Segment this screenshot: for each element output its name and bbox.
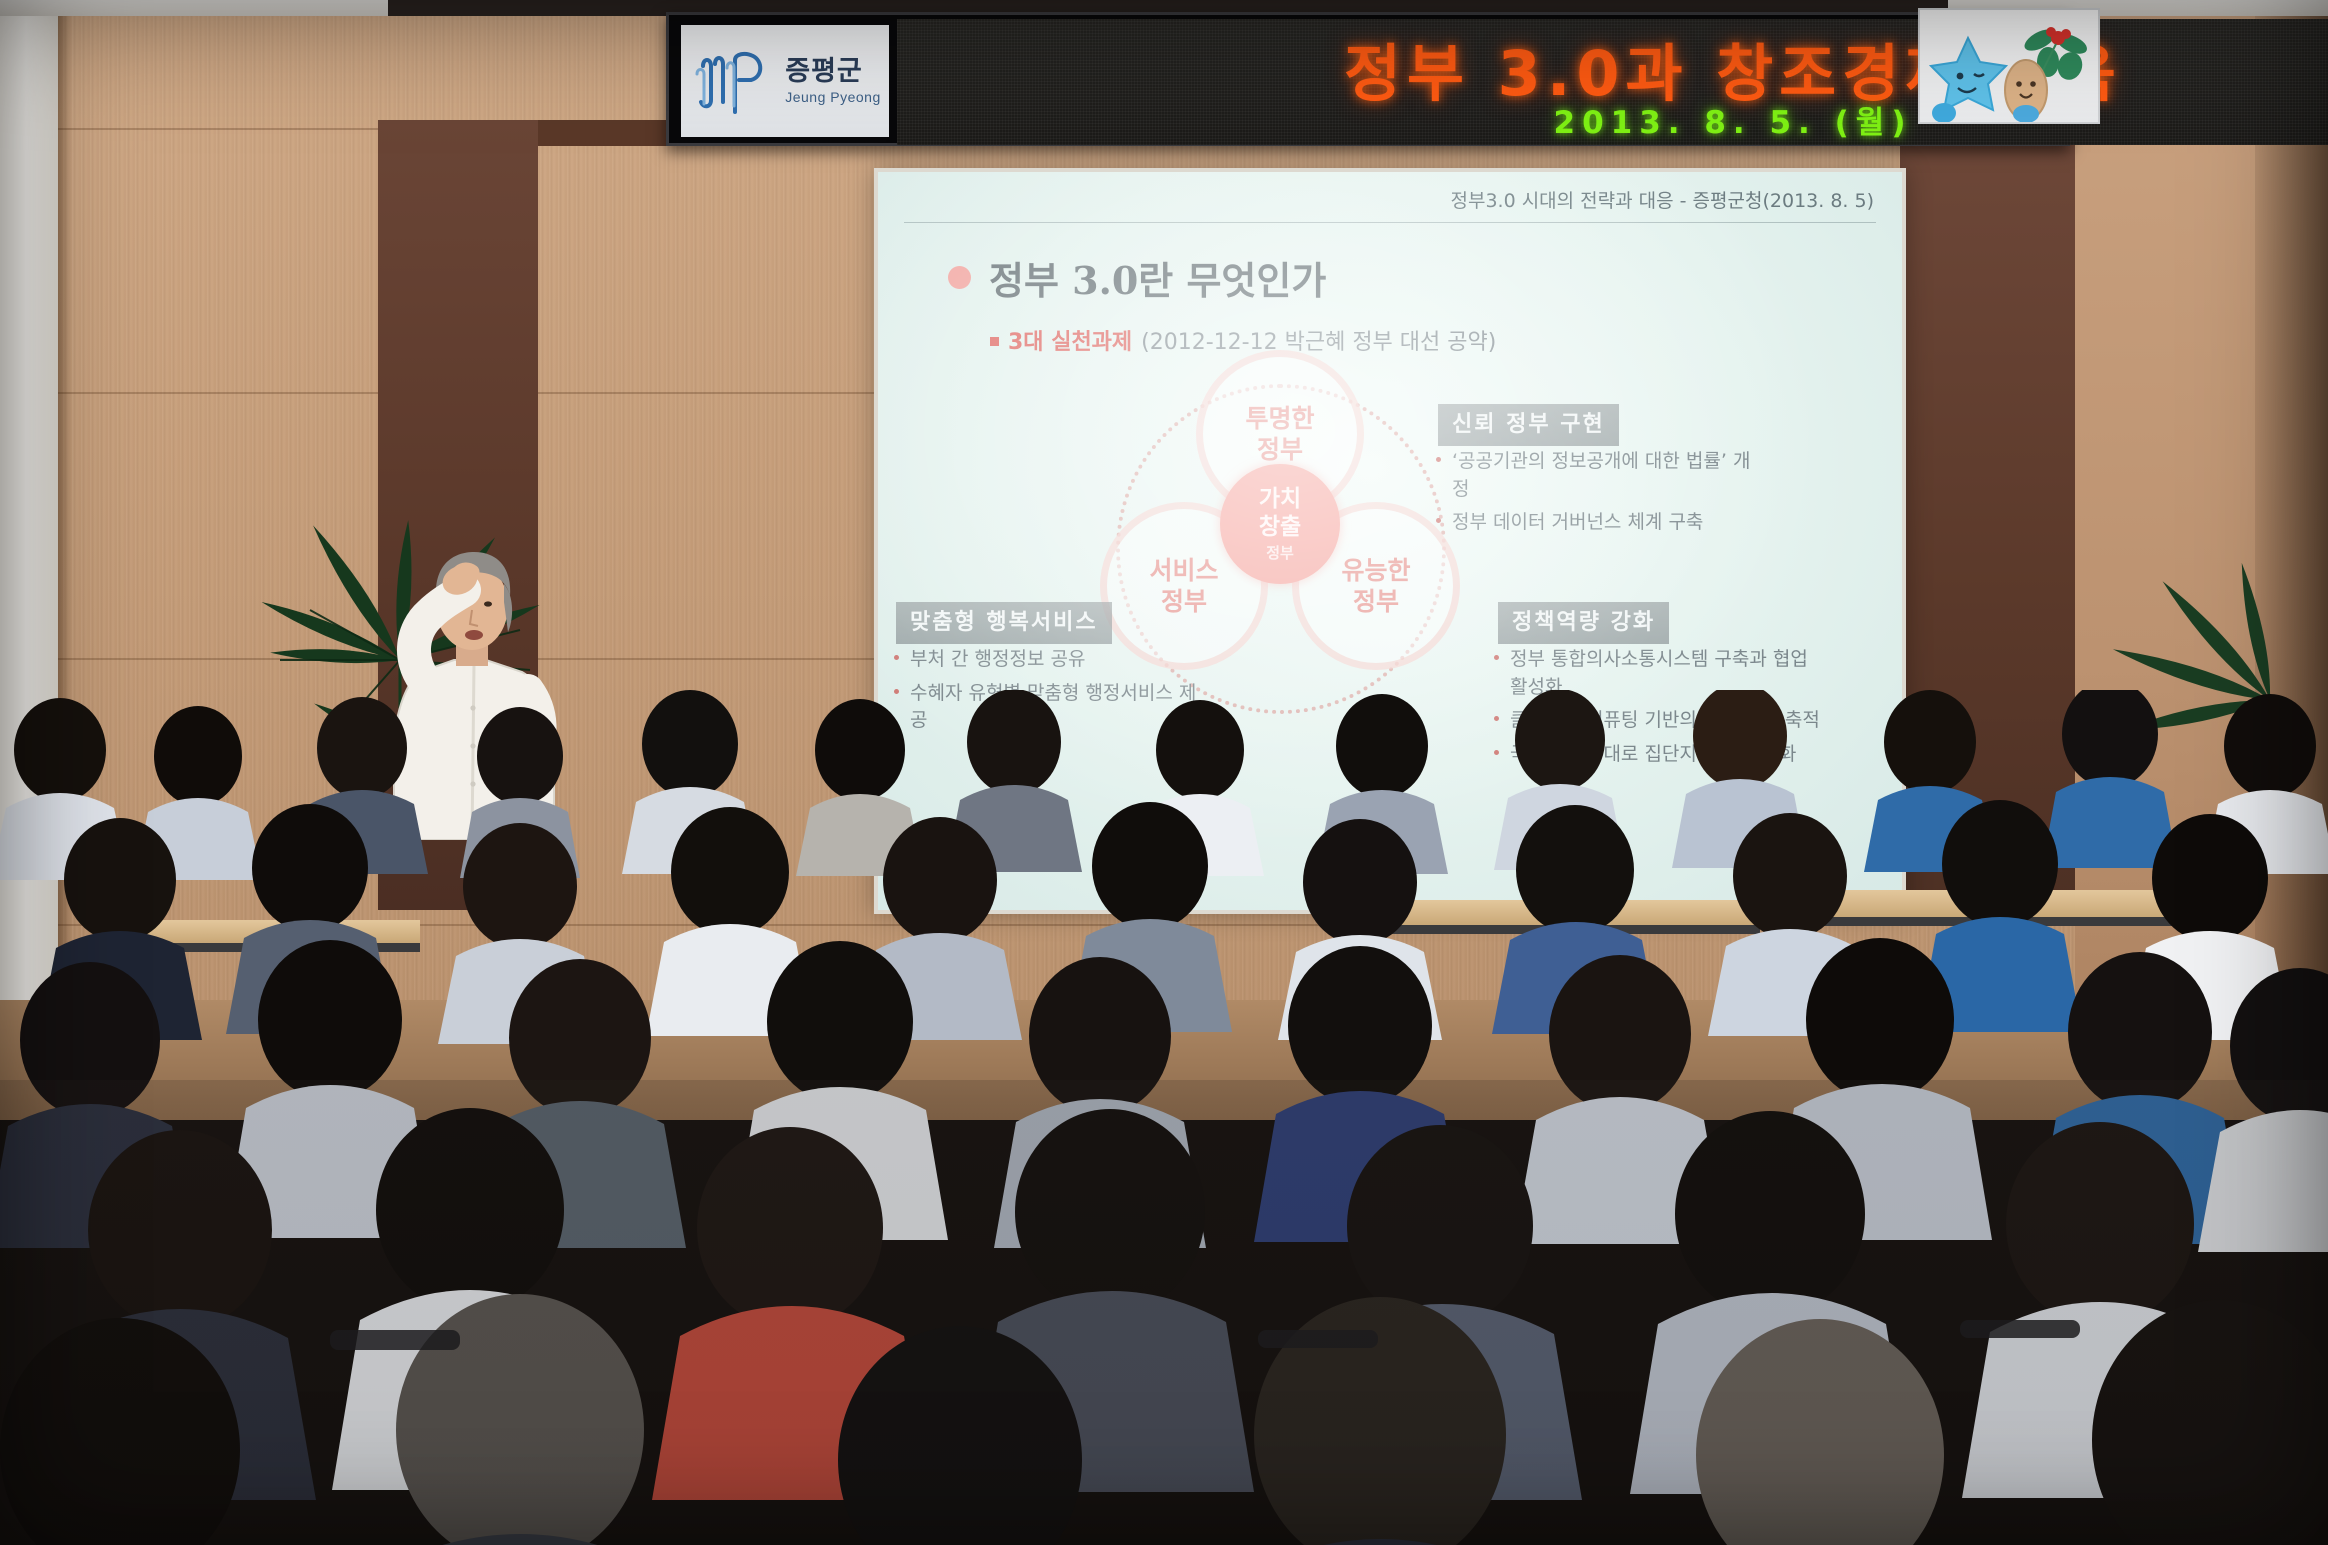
bullet-dot-icon	[948, 266, 971, 289]
slide-title: 정부 3.0란 무엇인가	[948, 250, 1326, 305]
mascot-characters-icon	[1920, 10, 2100, 124]
caption-policy-capacity: 정책역량 강화	[1498, 602, 1669, 644]
led-display-panel: 정부 3.0과 창조경제 교육 2013. 8. 5. (월)	[897, 19, 2328, 145]
bullet-square-icon	[990, 337, 999, 346]
slide-header-text: 정부3.0 시대의 전략과 대응 - 증평군청(2013. 8. 5)	[1450, 186, 1874, 213]
caption-happiness-service: 맞춤형 행복서비스	[896, 602, 1112, 644]
circle-top-line1: 투명한	[1245, 403, 1314, 434]
circle-center-line3: 정부	[1266, 544, 1294, 562]
jp-logo-icon	[689, 44, 775, 118]
list-item: 부처 간 행정정보 공유	[892, 646, 1202, 674]
circle-top-line2: 정부	[1257, 434, 1303, 465]
mascot-sign-plate	[1918, 8, 2100, 124]
circle-right-line2: 정부	[1353, 586, 1399, 617]
list-item: ‘공공기관의 정보공개에 대한 법률’ 개정	[1434, 448, 1764, 503]
logo-text-block: 증평군 Jeung Pyeong	[785, 58, 881, 104]
marquee-date-text: 2013. 8. 5. (월)	[897, 97, 2328, 142]
slide-header-divider	[904, 222, 1876, 223]
slide-subtitle: 3대 실천과제 (2012-12-12 박근혜 정부 대선 공약)	[990, 324, 1496, 356]
list-item: 정부 데이터 거버넌스 체계 구축	[1434, 509, 1764, 537]
circle-left-line1: 서비스	[1149, 555, 1218, 586]
logo-korean-name: 증평군	[785, 58, 863, 85]
circle-value-creation-core: 가치 창출 정부	[1220, 464, 1340, 584]
slide-subtitle-rest: (2012-12-12 박근혜 정부 대선 공약)	[1141, 324, 1496, 356]
logo-english-name: Jeung Pyeong	[785, 90, 881, 104]
circle-right-line1: 유능한	[1341, 555, 1410, 586]
lecture-hall-photo: 증평군 Jeung Pyeong 정부 3.0과 창조경제 교육 2013. 8…	[0, 0, 2328, 1545]
caption-trust-government: 신뢰 정부 구현	[1438, 404, 1619, 446]
led-marquee-sign: 증평군 Jeung Pyeong 정부 3.0과 창조경제 교육 2013. 8…	[666, 12, 2070, 146]
bullets-trust-government: ‘공공기관의 정보공개에 대한 법률’ 개정 정부 데이터 거버넌스 체계 구축	[1434, 448, 1764, 543]
jeungpyeong-logo-plate: 증평군 Jeung Pyeong	[681, 25, 889, 137]
slide-subtitle-strong: 3대 실천과제	[1008, 324, 1132, 356]
circle-center-line2: 창출	[1259, 514, 1301, 542]
circle-left-line2: 정부	[1161, 586, 1207, 617]
slide-title-text: 정부 3.0란 무엇인가	[989, 250, 1326, 305]
foreground-shadow	[0, 1080, 2328, 1545]
circle-center-line1: 가치	[1259, 486, 1301, 514]
